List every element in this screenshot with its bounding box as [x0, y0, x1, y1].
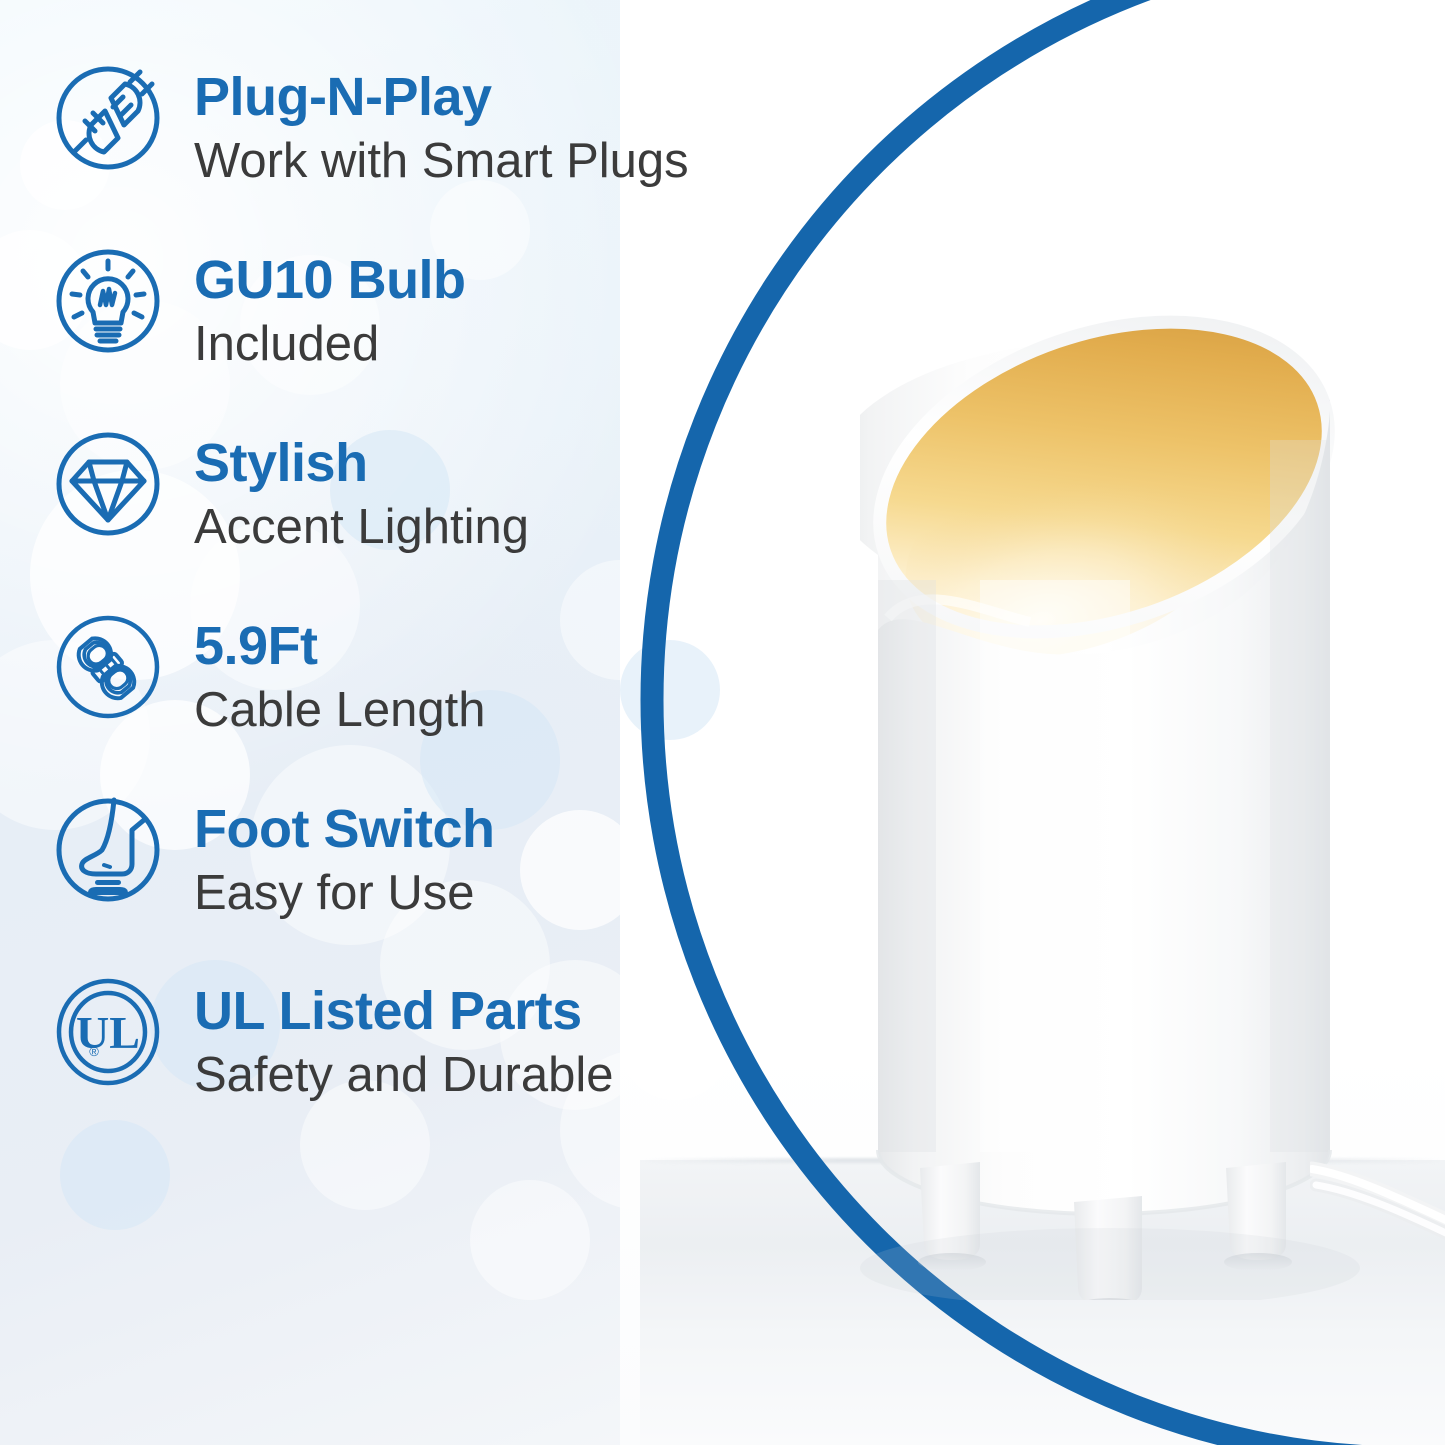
feature-list: Plug-N-Play Work with Smart Plugs — [52, 62, 752, 1159]
feature-title: UL Listed Parts — [194, 984, 614, 1038]
feature-text: Plug-N-Play Work with Smart Plugs — [194, 62, 689, 189]
feature-item-foot-switch: Foot Switch Easy for Use — [52, 794, 752, 921]
feature-item-gu10-bulb: GU10 Bulb Included — [52, 245, 752, 372]
feature-text: UL Listed Parts Safety and Durable — [194, 976, 614, 1103]
product-lamp-image — [860, 110, 1380, 1300]
feature-subtitle: Safety and Durable — [194, 1048, 614, 1103]
power-cord — [1310, 1155, 1445, 1265]
feature-title: Foot Switch — [194, 802, 494, 856]
feature-item-plug-n-play: Plug-N-Play Work with Smart Plugs — [52, 62, 752, 189]
feature-text: GU10 Bulb Included — [194, 245, 466, 372]
feature-title: Stylish — [194, 436, 529, 490]
feature-item-cable-length: 5.9Ft Cable Length — [52, 611, 752, 738]
coiled-cable-icon — [52, 611, 164, 723]
feature-subtitle: Cable Length — [194, 683, 486, 738]
plug-n-play-icon — [52, 62, 164, 174]
registered-symbol: ® — [89, 1044, 99, 1059]
feature-item-ul-listed: UL ® UL Listed Parts Safety and Durable — [52, 976, 752, 1103]
feature-text: Foot Switch Easy for Use — [194, 794, 494, 921]
feature-item-stylish: Stylish Accent Lighting — [52, 428, 752, 555]
feature-subtitle: Accent Lighting — [194, 500, 529, 555]
feature-title: Plug-N-Play — [194, 70, 689, 124]
ul-listed-icon: UL ® — [52, 976, 164, 1088]
feature-subtitle: Work with Smart Plugs — [194, 134, 689, 189]
feature-subtitle: Included — [194, 317, 466, 372]
feature-text: 5.9Ft Cable Length — [194, 611, 486, 738]
diamond-icon — [52, 428, 164, 540]
infographic-canvas: Plug-N-Play Work with Smart Plugs — [0, 0, 1445, 1445]
ul-mark-letters: UL — [76, 1007, 140, 1058]
light-bulb-icon — [52, 245, 164, 357]
feature-title: 5.9Ft — [194, 619, 486, 673]
feature-text: Stylish Accent Lighting — [194, 428, 529, 555]
feature-title: GU10 Bulb — [194, 253, 466, 307]
feature-subtitle: Easy for Use — [194, 866, 494, 921]
foot-switch-icon — [52, 794, 164, 906]
